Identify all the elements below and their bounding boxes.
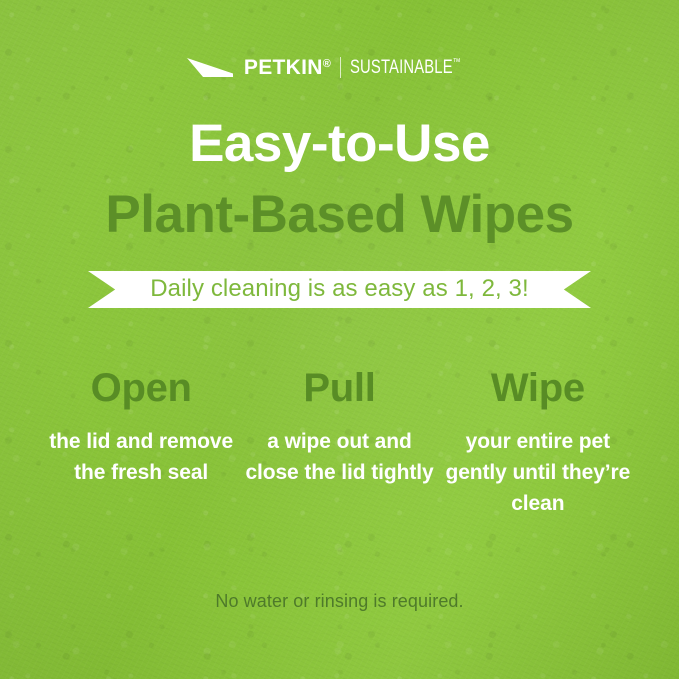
trademark-symbol: ™ <box>453 57 461 68</box>
brand-sub-text: SUSTAINABLE <box>350 57 453 78</box>
poster-content: PETKIN® SUSTAINABLE™ Easy-to-Use Plant-B… <box>0 0 679 679</box>
step-item-open: Open the lid and remove the fresh seal <box>42 366 240 488</box>
petkin-swoosh-icon <box>187 58 233 77</box>
brand-sub-lockup: SUSTAINABLE™ <box>350 58 461 77</box>
footnote-text: No water or rinsing is required. <box>0 592 679 610</box>
ribbon-banner: Daily cleaning is as easy as 1, 2, 3! <box>88 271 591 308</box>
step-body: your entire pet gently until they’re cle… <box>443 426 633 519</box>
steps-row: Open the lid and remove the fresh seal P… <box>42 366 637 519</box>
headline-line-1: Easy-to-Use <box>0 115 679 172</box>
ribbon-text: Daily cleaning is as easy as 1, 2, 3! <box>150 277 529 303</box>
brand-lockup: PETKIN® SUSTAINABLE™ <box>0 57 679 78</box>
brand-name-text: PETKIN <box>244 56 323 79</box>
step-title: Wipe <box>443 366 633 410</box>
step-item-pull: Pull a wipe out and close the lid tightl… <box>240 366 438 488</box>
headline-line-2: Plant-Based Wipes <box>0 186 679 243</box>
registered-symbol: ® <box>323 58 331 70</box>
step-body: a wipe out and close the lid tightly <box>244 426 434 488</box>
brand-name: PETKIN® <box>244 57 331 78</box>
step-body: the lid and remove the fresh seal <box>46 426 236 488</box>
product-infographic-poster: PETKIN® SUSTAINABLE™ Easy-to-Use Plant-B… <box>0 0 679 679</box>
step-title: Open <box>46 366 236 410</box>
step-item-wipe: Wipe your entire pet gently until they’r… <box>439 366 637 519</box>
step-title: Pull <box>244 366 434 410</box>
brand-divider <box>340 57 341 78</box>
